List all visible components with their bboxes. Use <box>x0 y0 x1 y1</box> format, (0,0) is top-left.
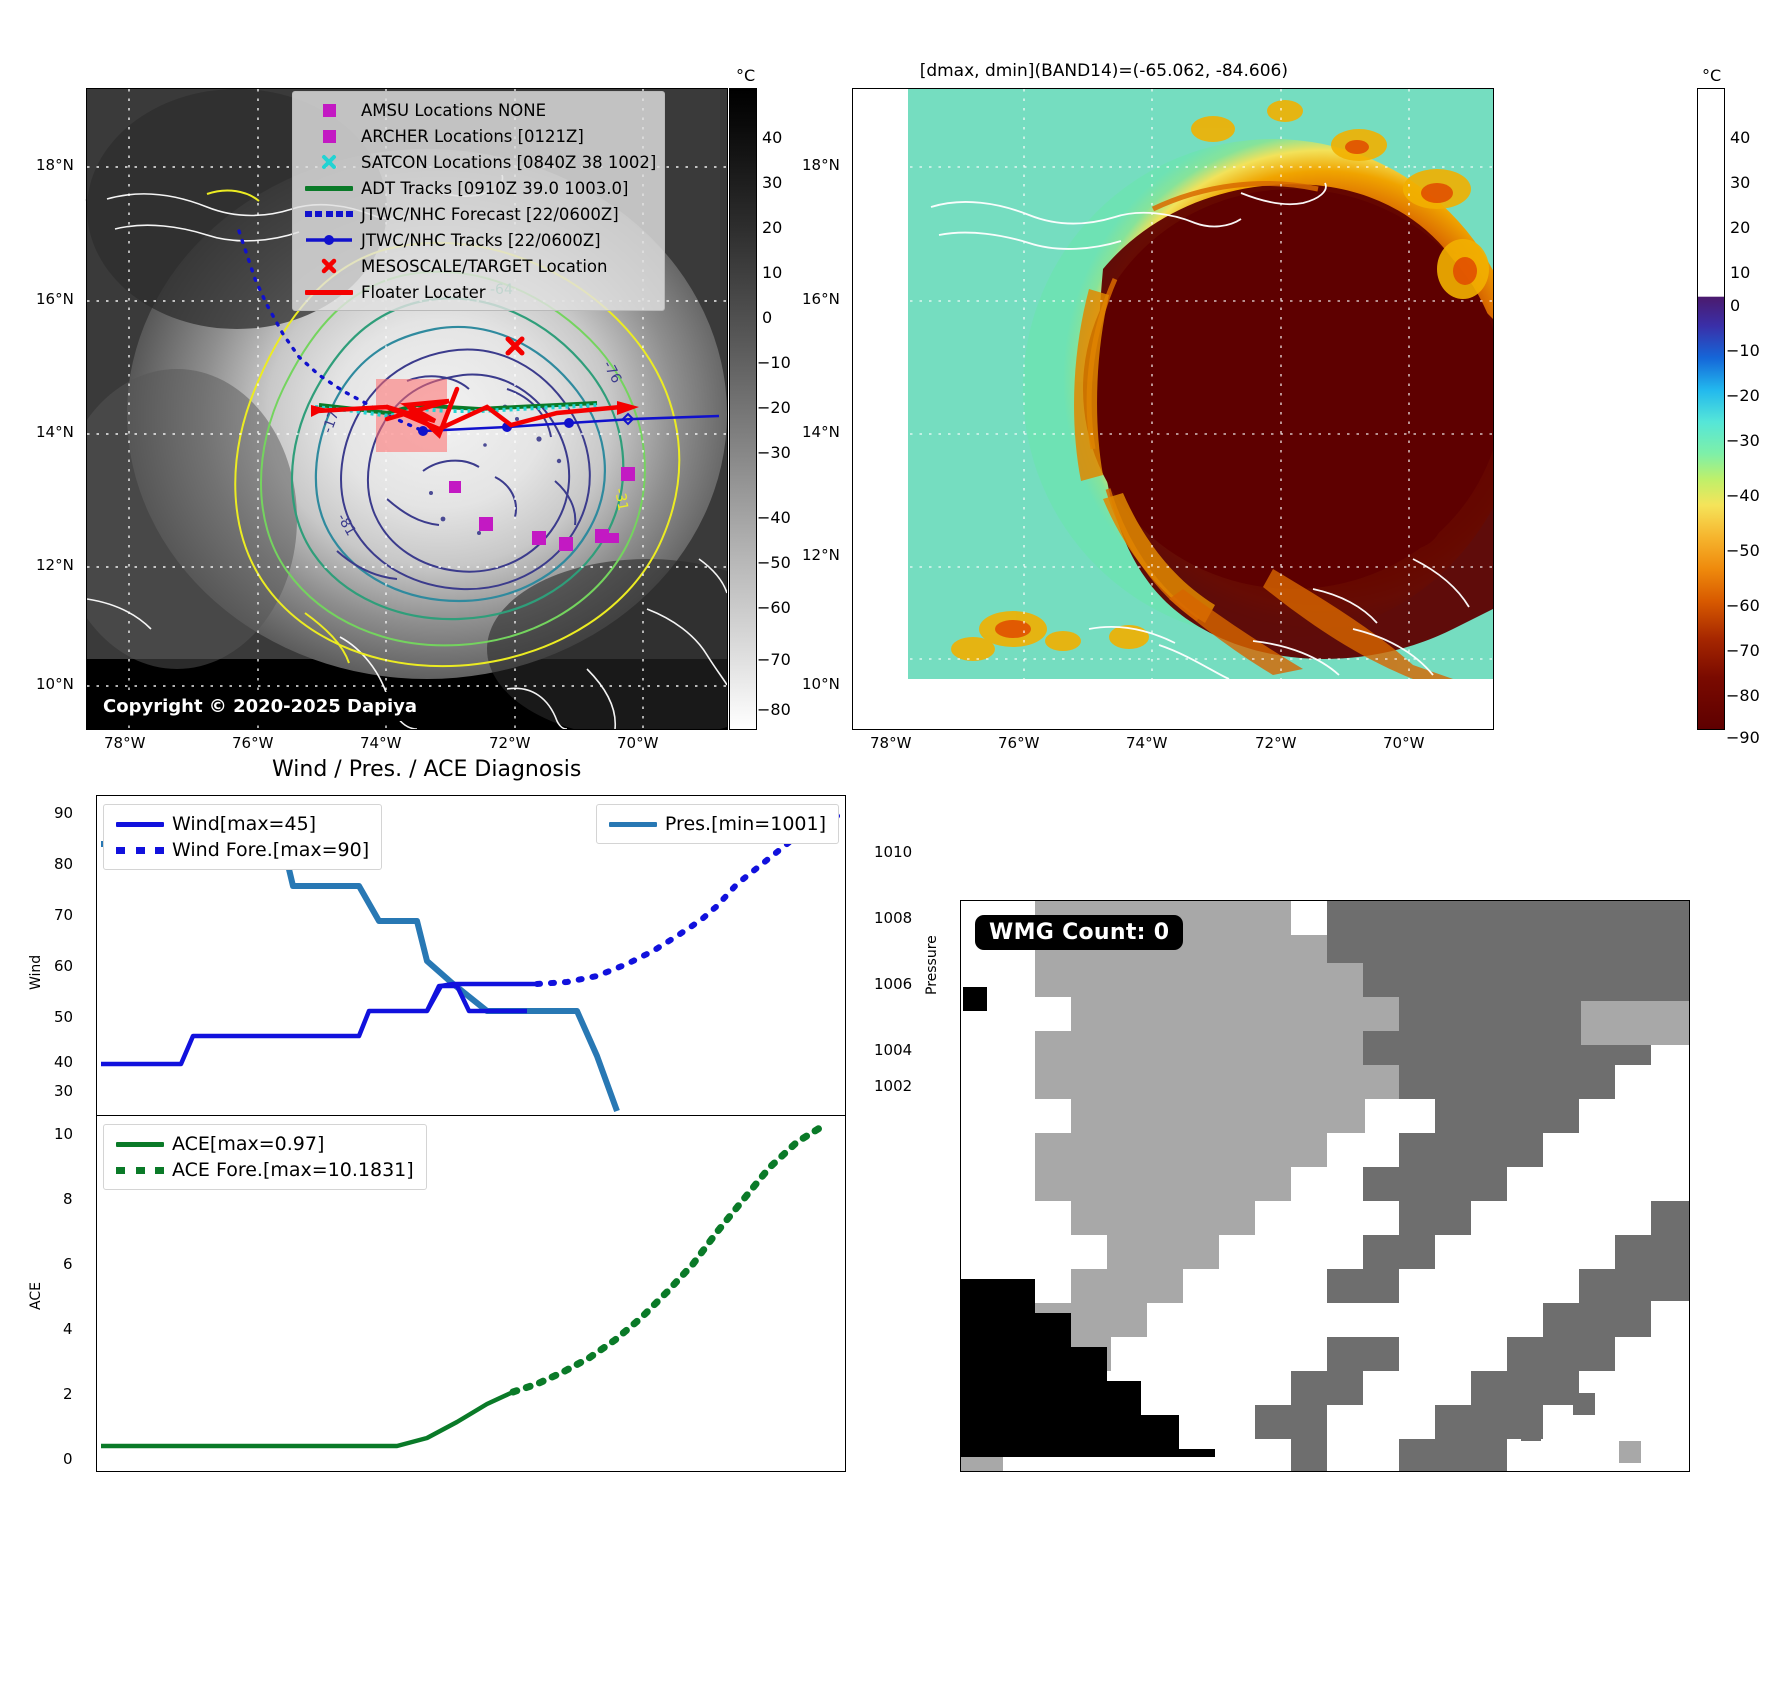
wind-axis-label: Wind <box>28 955 44 990</box>
line-icon <box>112 1142 168 1147</box>
right-satellite-map[interactable] <box>852 88 1494 730</box>
right-lon-label-76w: 76°W <box>998 734 1039 752</box>
right-cb-tick-m10: −10 <box>1726 341 1760 360</box>
wind-tick-70: 70 <box>54 906 73 924</box>
ace-axis-label: ACE <box>28 1282 44 1310</box>
left-cb-tick-m40: −40 <box>757 508 791 527</box>
right-cb-tick-30: 30 <box>1730 173 1750 192</box>
left-cb-tick-m50: −50 <box>757 553 791 572</box>
ace-tick-10: 10 <box>54 1125 73 1143</box>
line-icon <box>301 290 357 295</box>
left-cb-tick-m60: −60 <box>757 598 791 617</box>
map-legend: AMSU Locations NONE ARCHER Locations [01… <box>292 91 665 311</box>
left-cb-tick-m30: −30 <box>757 443 791 462</box>
right-cb-tick-m20: −20 <box>1726 386 1760 405</box>
line-marker-icon <box>301 233 357 247</box>
right-cb-tick-10: 10 <box>1730 263 1750 282</box>
legend-item-ace-forecast: ACE Fore.[max=10.1831] <box>112 1157 414 1183</box>
pres-tick-1004: 1004 <box>874 1041 912 1059</box>
right-lon-label-78w: 78°W <box>870 734 911 752</box>
wind-tick-60: 60 <box>54 957 73 975</box>
left-lat-label-18n: 18°N <box>36 156 74 174</box>
ace-tick-6: 6 <box>63 1255 73 1273</box>
wind-legend: Wind[max=45] Wind Fore.[max=90] <box>103 804 382 870</box>
line-icon <box>301 186 357 191</box>
wmg-count-badge: WMG Count: 0 <box>975 915 1183 950</box>
left-satellite-map[interactable]: -64 -76 -17 -81 -31 <box>86 88 728 730</box>
legend-item-jtwc-forecast: JTWC/NHC Forecast [22/0600Z] <box>301 201 656 227</box>
legend-item-adt: ADT Tracks [0910Z 39.0 1003.0] <box>301 175 656 201</box>
right-lon-label-72w: 72°W <box>1255 734 1296 752</box>
left-cb-tick-40: 40 <box>762 128 782 147</box>
right-lat-label-18n: 18°N <box>802 156 840 174</box>
wind-tick-50: 50 <box>54 1008 73 1026</box>
ace-tick-0: 0 <box>63 1450 73 1468</box>
right-lat-label-10n: 10°N <box>802 675 840 693</box>
left-lon-label-76w: 76°W <box>232 734 273 752</box>
stat-band14: [dmax, dmin](BAND14)=(-65.062, -84.606) <box>920 60 1288 82</box>
x-mark-icon <box>301 153 357 171</box>
pres-tick-1006: 1006 <box>874 975 912 993</box>
right-cb-tick-m40: −40 <box>1726 486 1760 505</box>
ace-legend: ACE[max=0.97] ACE Fore.[max=10.1831] <box>103 1124 427 1190</box>
wind-tick-30: 30 <box>54 1082 73 1100</box>
wind-tick-40: 40 <box>54 1053 73 1071</box>
left-colorbar-unit: °C <box>736 66 755 85</box>
left-cb-tick-10: 10 <box>762 263 782 282</box>
right-cb-tick-m80: −80 <box>1726 686 1760 705</box>
right-cb-tick-0: 0 <box>1730 296 1740 315</box>
pressure-axis-label: Pressure <box>924 935 940 995</box>
left-lat-label-16n: 16°N <box>36 290 74 308</box>
right-colorbar-unit: °C <box>1702 66 1721 85</box>
ace-forecast-line <box>513 1126 823 1392</box>
left-cb-tick-m10: −10 <box>757 353 791 372</box>
left-lat-label-10n: 10°N <box>36 675 74 693</box>
dotted-line-icon <box>301 211 357 217</box>
left-lon-label-70w: 70°W <box>617 734 658 752</box>
left-lon-label-72w: 72°W <box>489 734 530 752</box>
right-cb-tick-m50: −50 <box>1726 541 1760 560</box>
line-icon <box>605 822 661 827</box>
pressure-line <box>101 844 617 1111</box>
right-cb-tick-m60: −60 <box>1726 596 1760 615</box>
left-colorbar <box>729 88 757 730</box>
wind-pressure-chart[interactable]: Wind[max=45] Wind Fore.[max=90] Pres.[mi… <box>96 795 846 1117</box>
legend-item-archer: ARCHER Locations [0121Z] <box>301 123 656 149</box>
x-mark-icon <box>301 257 357 275</box>
left-cb-tick-m80: −80 <box>757 700 791 719</box>
legend-item-floater: Floater Locater <box>301 279 656 305</box>
legend-item-amsu: AMSU Locations NONE <box>301 97 656 123</box>
right-cb-tick-40: 40 <box>1730 128 1750 147</box>
right-cb-tick-m90: −90 <box>1726 728 1760 747</box>
left-cb-tick-20: 20 <box>762 218 782 237</box>
pres-tick-1008: 1008 <box>874 909 912 927</box>
square-icon <box>301 104 357 117</box>
dotted-line-icon <box>112 847 168 853</box>
square-icon <box>301 130 357 143</box>
wind-tick-90: 90 <box>54 804 73 822</box>
legend-item-pressure: Pres.[min=1001] <box>605 811 826 837</box>
copyright-badge: Copyright © 2020-2025 Dapiya <box>93 692 427 721</box>
wmg-black-cell <box>963 987 987 1011</box>
pressure-legend: Pres.[min=1001] <box>596 804 839 844</box>
line-icon <box>112 822 168 827</box>
right-lon-label-70w: 70°W <box>1383 734 1424 752</box>
right-colorbar <box>1697 88 1725 730</box>
pres-tick-1002: 1002 <box>874 1077 912 1095</box>
legend-item-wind: Wind[max=45] <box>112 811 369 837</box>
pres-tick-1010: 1010 <box>874 843 912 861</box>
ace-tick-2: 2 <box>63 1385 73 1403</box>
wmg-panel[interactable]: WMG Count: 0 <box>960 900 1690 1472</box>
right-cb-tick-m30: −30 <box>1726 431 1760 450</box>
ace-chart[interactable]: ACE[max=0.97] ACE Fore.[max=10.1831] <box>96 1115 846 1472</box>
left-cb-tick-m20: −20 <box>757 398 791 417</box>
legend-item-ace: ACE[max=0.97] <box>112 1131 414 1157</box>
wind-tick-80: 80 <box>54 855 73 873</box>
ace-line <box>101 1392 513 1446</box>
right-lon-label-74w: 74°W <box>1126 734 1167 752</box>
left-lon-label-74w: 74°W <box>360 734 401 752</box>
legend-item-mesoscale: MESOSCALE/TARGET Location <box>301 253 656 279</box>
left-cb-tick-30: 30 <box>762 173 782 192</box>
right-lat-label-14n: 14°N <box>802 423 840 441</box>
left-lat-label-12n: 12°N <box>36 556 74 574</box>
dotted-line-icon <box>112 1167 168 1173</box>
wind-line <box>101 986 527 1064</box>
left-cb-tick-0: 0 <box>762 308 772 327</box>
left-cb-tick-m70: −70 <box>757 650 791 669</box>
diagnosis-title: Wind / Pres. / ACE Diagnosis <box>272 757 581 782</box>
legend-item-wind-forecast: Wind Fore.[max=90] <box>112 837 369 863</box>
left-lon-label-78w: 78°W <box>104 734 145 752</box>
right-cb-tick-20: 20 <box>1730 218 1750 237</box>
ace-tick-8: 8 <box>63 1190 73 1208</box>
right-lat-label-16n: 16°N <box>802 290 840 308</box>
legend-item-jtwc-tracks: JTWC/NHC Tracks [22/0600Z] <box>301 227 656 253</box>
right-lat-label-12n: 12°N <box>802 546 840 564</box>
left-lat-label-14n: 14°N <box>36 423 74 441</box>
ace-tick-4: 4 <box>63 1320 73 1338</box>
right-cb-tick-m70: −70 <box>1726 641 1760 660</box>
legend-item-satcon: SATCON Locations [0840Z 38 1002] <box>301 149 656 175</box>
